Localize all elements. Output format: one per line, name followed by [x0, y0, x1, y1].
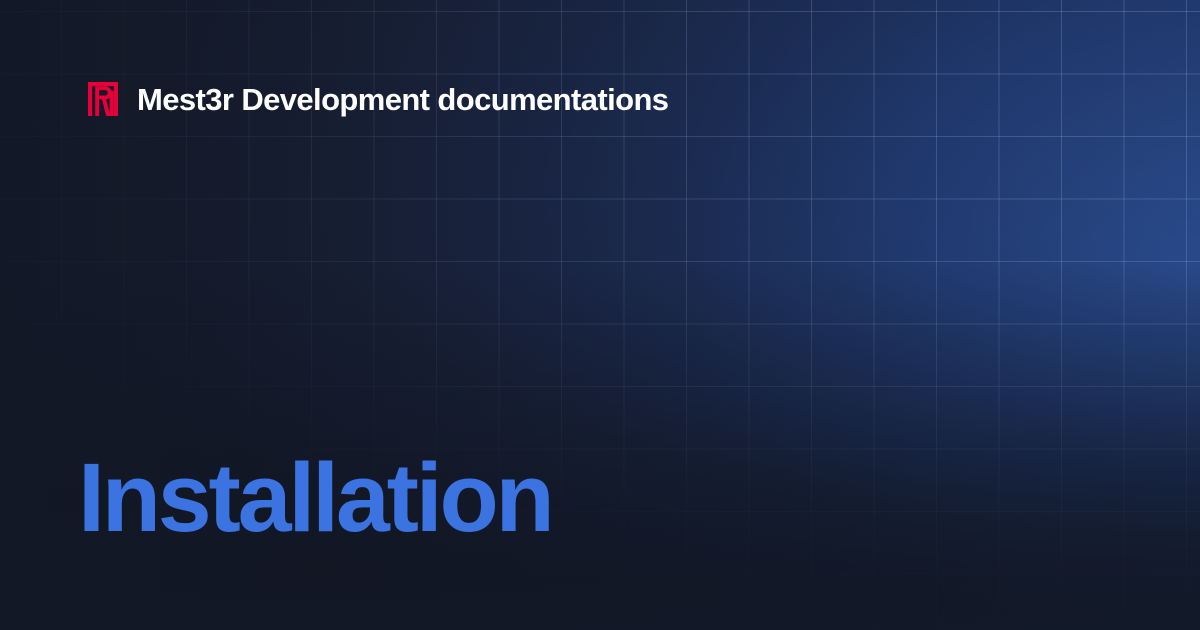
og-card: Mest3r Development documentations Instal…	[0, 0, 1200, 630]
brand-row: Mest3r Development documentations	[88, 82, 668, 116]
card-content: Mest3r Development documentations Instal…	[0, 0, 1200, 630]
mestr-monogram-logo-icon	[88, 82, 118, 116]
brand-title: Mest3r Development documentations	[137, 84, 668, 115]
page-title: Installation	[78, 449, 552, 546]
